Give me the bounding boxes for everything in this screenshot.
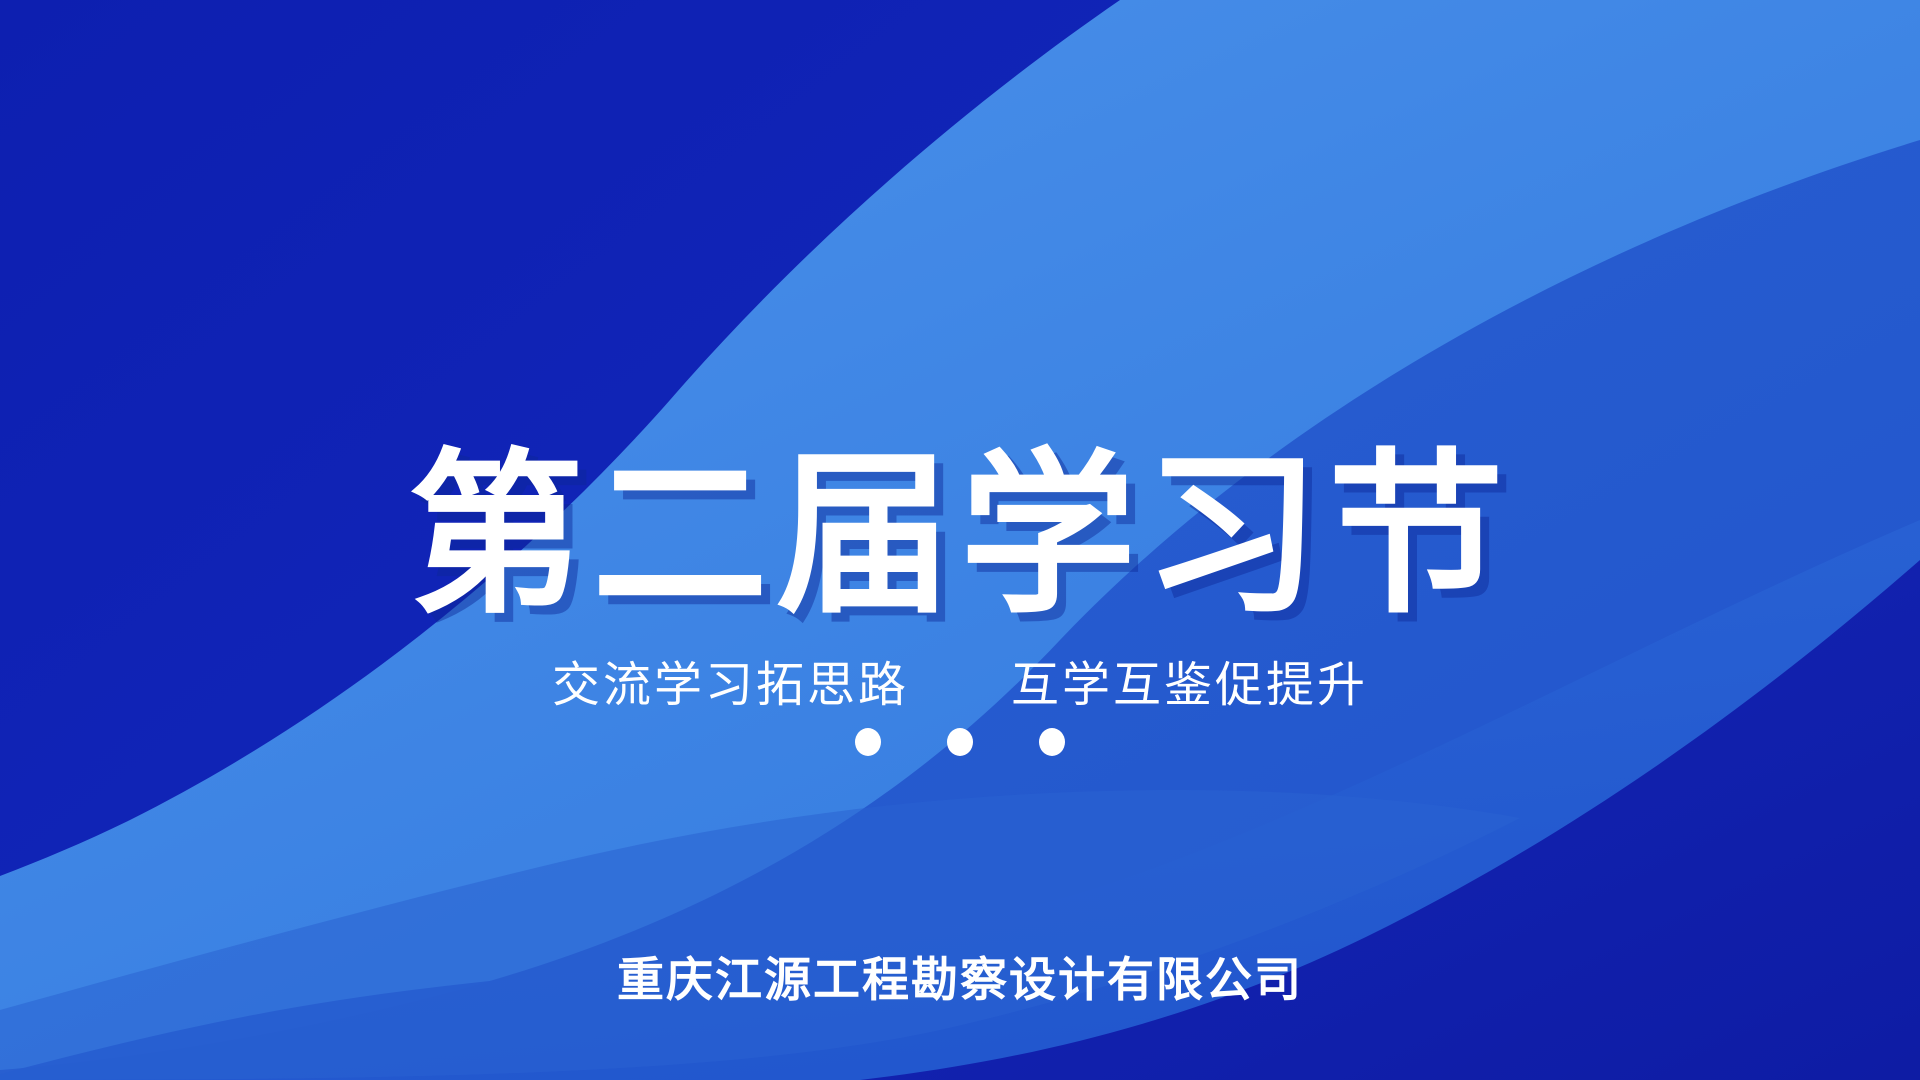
dot-icon bbox=[947, 728, 973, 756]
company-name: 重庆江源工程勘察设计有限公司 bbox=[0, 952, 1920, 1008]
dot-icon bbox=[1039, 728, 1065, 756]
divider-dots bbox=[0, 728, 1920, 756]
poster-content: 第二届学习节 交流学习拓思路 互学互鉴促提升 重庆江源工程勘察设计有限公司 bbox=[0, 0, 1920, 1080]
page-title: 第二届学习节 bbox=[0, 448, 1920, 624]
dot-icon bbox=[855, 728, 881, 756]
poster-canvas: 第二届学习节 交流学习拓思路 互学互鉴促提升 重庆江源工程勘察设计有限公司 bbox=[0, 0, 1920, 1080]
poster-subtitle: 交流学习拓思路 互学互鉴促提升 bbox=[0, 656, 1920, 716]
